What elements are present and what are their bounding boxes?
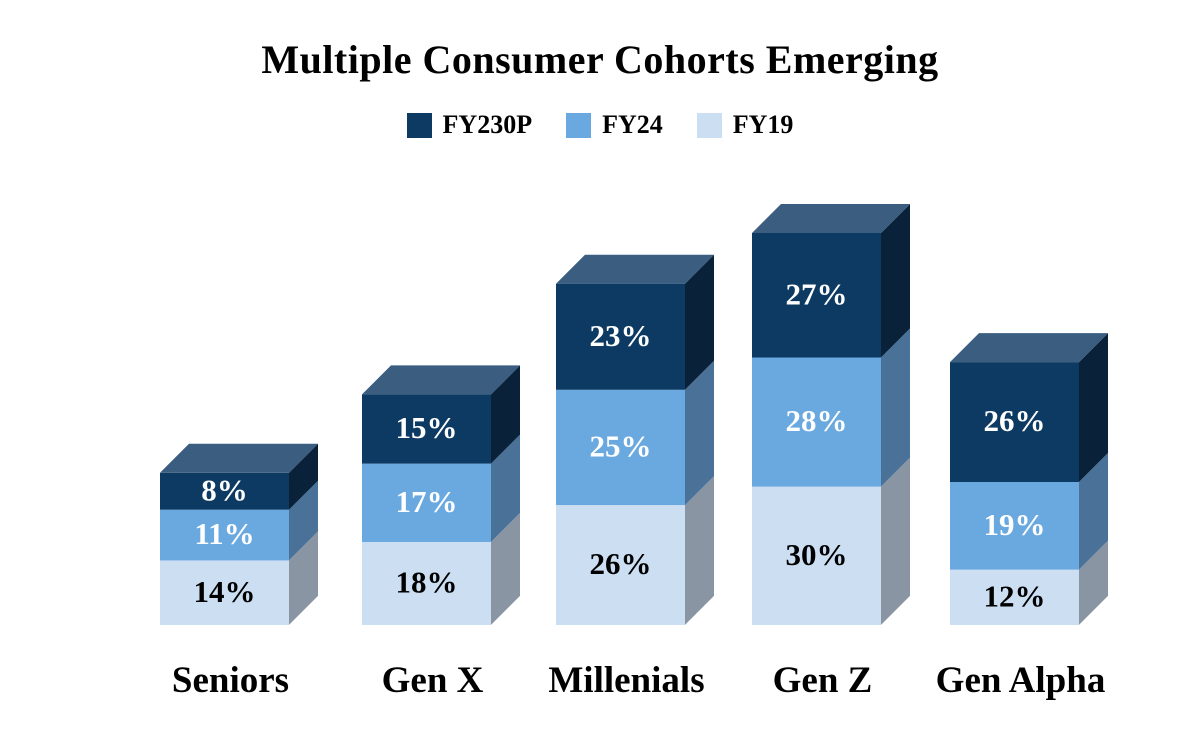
bar-value-label: 8% bbox=[201, 472, 248, 507]
bar-value-label: 30% bbox=[786, 537, 848, 572]
category-label-millenials: Millenials bbox=[548, 660, 704, 701]
category-label-gen-x: Gen X bbox=[382, 660, 484, 701]
bar-value-label: 14% bbox=[194, 574, 256, 609]
bar-value-label: 23% bbox=[590, 318, 652, 353]
bar-value-label: 27% bbox=[786, 276, 848, 311]
category-label-gen-z: Gen Z bbox=[773, 660, 873, 701]
bar-value-label: 15% bbox=[396, 410, 458, 445]
category-label-seniors: Seniors bbox=[172, 660, 289, 701]
category-label-gen-alpha: Gen Alpha bbox=[936, 660, 1106, 701]
bar-value-label: 26% bbox=[590, 546, 652, 581]
bar-value-label: 26% bbox=[984, 403, 1046, 438]
bar-value-label: 25% bbox=[590, 429, 652, 464]
bar-value-label: 11% bbox=[194, 516, 254, 551]
stacked-bar-plot: 14%11%8%Seniors18%17%15%Gen X26%25%23%Mi… bbox=[0, 0, 1200, 742]
bar-value-label: 12% bbox=[984, 578, 1046, 613]
bar-side-gen-z-fy19 bbox=[881, 458, 910, 625]
bar-value-label: 19% bbox=[984, 507, 1046, 542]
bar-value-label: 17% bbox=[396, 484, 458, 519]
bar-value-label: 28% bbox=[786, 403, 848, 438]
chart-container: Multiple Consumer Cohorts Emerging FY230… bbox=[0, 0, 1200, 742]
bar-value-label: 18% bbox=[396, 565, 458, 600]
